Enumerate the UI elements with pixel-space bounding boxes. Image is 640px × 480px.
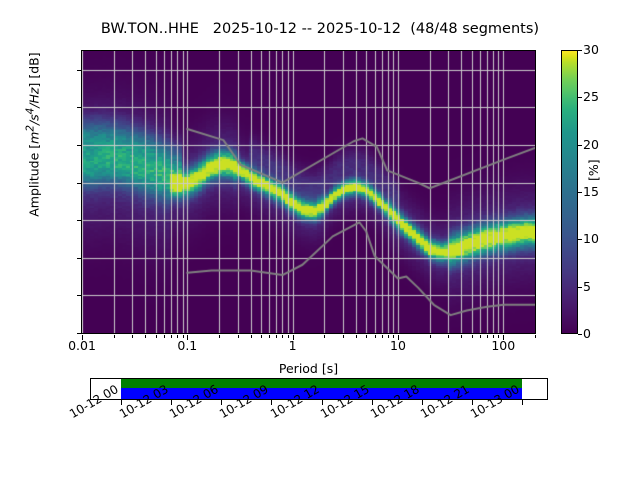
colorbar-tick-label: 5	[583, 279, 591, 294]
x-axis-tick-mark	[251, 335, 252, 338]
x-axis-tick-mark	[276, 335, 277, 338]
x-axis-tick-label: 0.01	[68, 338, 96, 353]
x-axis-tick-mark	[324, 335, 325, 338]
x-axis-label: Period [s]	[81, 361, 536, 376]
x-axis-tick-mark	[356, 335, 357, 338]
x-axis-tick-label: 100	[491, 338, 515, 353]
timeline-tick-mark	[121, 400, 122, 405]
y-axis-tick-mark	[77, 295, 81, 296]
colorbar-tick-label: 25	[583, 89, 599, 104]
y-axis-tick-mark	[77, 145, 81, 146]
x-axis-tick-mark	[448, 335, 449, 338]
timeline-tick-mark	[322, 400, 323, 405]
colorbar-tick-mark	[578, 145, 582, 146]
x-axis-tick-label: 0.1	[177, 338, 197, 353]
colorbar	[561, 50, 578, 334]
x-axis-tick-mark	[472, 335, 473, 338]
colorbar-tick-mark	[578, 97, 582, 98]
x-axis-tick-mark	[535, 335, 536, 338]
x-axis-tick-mark	[164, 335, 165, 338]
y-axis-tick-mark	[77, 333, 81, 334]
colorbar-tick-mark	[578, 239, 582, 240]
x-axis-tick-mark	[343, 335, 344, 338]
ppsd-plot-area	[81, 50, 536, 334]
timeline-tick-mark	[522, 400, 523, 405]
timeline-tick-mark	[171, 400, 172, 405]
x-axis-tick-mark	[219, 335, 220, 338]
colorbar-tick-label: 30	[583, 42, 599, 57]
colorbar-tick-label: 10	[583, 231, 599, 246]
x-axis-tick-mark	[261, 335, 262, 338]
x-axis-tick-mark	[238, 335, 239, 338]
x-axis-tick-mark	[114, 335, 115, 338]
x-axis-tick-mark	[366, 335, 367, 338]
x-axis-tick-mark	[430, 335, 431, 338]
y-axis-label: Amplitude [m2/s4/Hz] [dB]	[24, 5, 41, 265]
x-axis-tick-mark	[171, 335, 172, 338]
x-axis-tick-mark	[480, 335, 481, 338]
x-axis-tick-mark	[388, 335, 389, 338]
x-axis-tick-label: 10	[390, 338, 406, 353]
colorbar-tick-label: 20	[583, 137, 599, 152]
x-axis-tick-mark	[269, 335, 270, 338]
x-axis-tick-mark	[132, 335, 133, 338]
colorbar-tick-label: 0	[583, 326, 591, 341]
x-axis-tick-mark	[461, 335, 462, 338]
y-axis-tick-mark	[77, 183, 81, 184]
x-axis-tick-mark	[375, 335, 376, 338]
colorbar-tick-mark	[578, 192, 582, 193]
x-axis-tick-mark	[145, 335, 146, 338]
noise-model-curves	[82, 51, 535, 333]
colorbar-label: [%]	[586, 159, 601, 181]
timeline-tick-mark	[271, 400, 272, 405]
timeline-tick-mark	[422, 400, 423, 405]
x-axis-tick-mark	[382, 335, 383, 338]
timeline-tick-mark	[372, 400, 373, 405]
y-axis-tick-mark	[77, 220, 81, 221]
y-axis-tick-mark	[77, 70, 81, 71]
y-axis-tick-mark	[77, 258, 81, 259]
x-axis-tick-mark	[487, 335, 488, 338]
colorbar-tick-mark	[578, 334, 582, 335]
y-axis-tick-mark	[77, 107, 81, 108]
x-axis-tick-mark	[282, 335, 283, 338]
colorbar-tick-mark	[578, 50, 582, 51]
x-axis-tick-mark	[156, 335, 157, 338]
colorbar-tick-mark	[578, 287, 582, 288]
ppsd-figure: BW.TON..HHE 2025-10-12 -- 2025-10-12 (48…	[0, 0, 640, 480]
timeline-tick-mark	[472, 400, 473, 405]
x-axis-tick-label: 1	[289, 338, 297, 353]
colorbar-tick-label: 15	[583, 184, 599, 199]
page-title: BW.TON..HHE 2025-10-12 -- 2025-10-12 (48…	[0, 21, 640, 37]
timeline-tick-mark	[221, 400, 222, 405]
